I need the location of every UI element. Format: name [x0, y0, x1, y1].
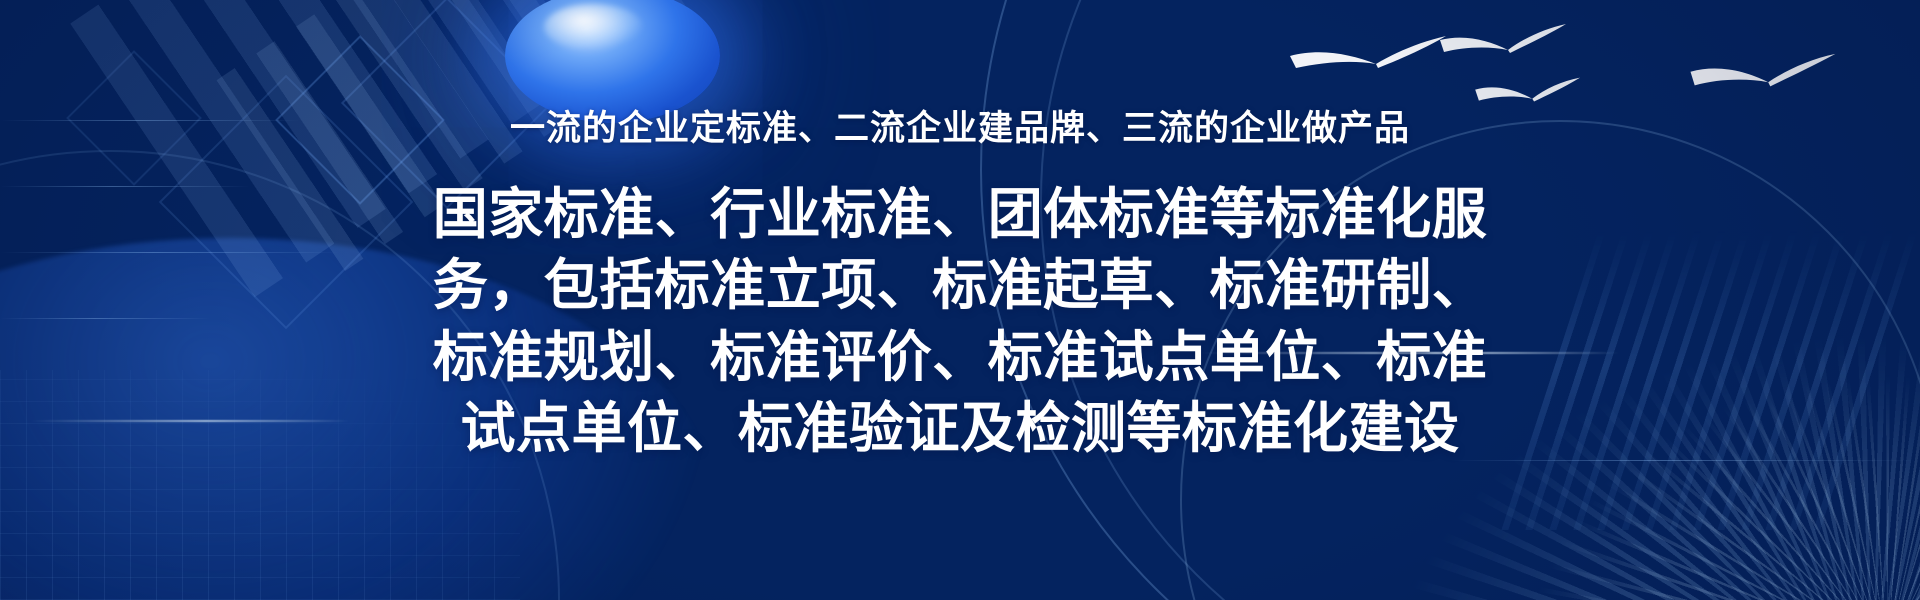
- banner-headline: 国家标准、行业标准、团体标准等标准化服务，包括标准立项、标准起草、标准研制、标准…: [430, 179, 1490, 465]
- banner-subtitle: 一流的企业定标准、二流企业建品牌、三流的企业做产品: [510, 110, 1410, 149]
- promo-banner: 一流的企业定标准、二流企业建品牌、三流的企业做产品 国家标准、行业标准、团体标准…: [0, 0, 1920, 600]
- banner-content: 一流的企业定标准、二流企业建品牌、三流的企业做产品 国家标准、行业标准、团体标准…: [0, 0, 1920, 600]
